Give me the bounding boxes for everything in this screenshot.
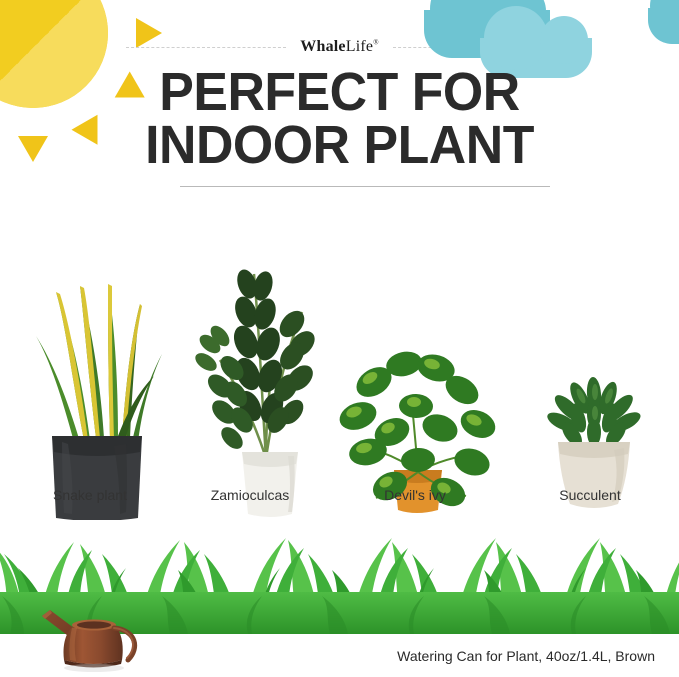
headline-line-2: INDOOR PLANT xyxy=(14,119,666,172)
plant-label-row: Snake plant Zamioculcas Devil's ivy Succ… xyxy=(0,487,679,509)
snake-plant-image xyxy=(22,230,172,520)
plant-label-zamioculcas: Zamioculcas xyxy=(180,487,320,503)
product-caption: Watering Can for Plant, 40oz/1.4L, Brown xyxy=(0,648,655,664)
divider-rule xyxy=(180,186,550,187)
plant-item-zamioculcas xyxy=(192,240,332,520)
plant-label-snake-plant: Snake plant xyxy=(20,487,160,503)
plant-gallery xyxy=(0,200,679,520)
brand-name-light: Life xyxy=(346,38,373,55)
plant-label-succulent: Succulent xyxy=(520,487,660,503)
zamioculcas-image xyxy=(192,240,332,520)
headline-line-1: PERFECT FOR xyxy=(14,66,666,119)
plant-label-devils-ivy: Devil's ivy xyxy=(345,487,485,503)
product-infographic: WhaleLife® PERFECT FOR INDOOR PLANT xyxy=(0,0,679,677)
brand-name-bold: Whale xyxy=(300,38,345,55)
divider-dashed-left xyxy=(126,47,286,48)
brand-logo: WhaleLife® xyxy=(300,38,378,56)
plant-item-snake-plant xyxy=(22,230,172,520)
page-title: PERFECT FOR INDOOR PLANT xyxy=(14,66,666,172)
registered-trademark-icon: ® xyxy=(373,39,379,47)
